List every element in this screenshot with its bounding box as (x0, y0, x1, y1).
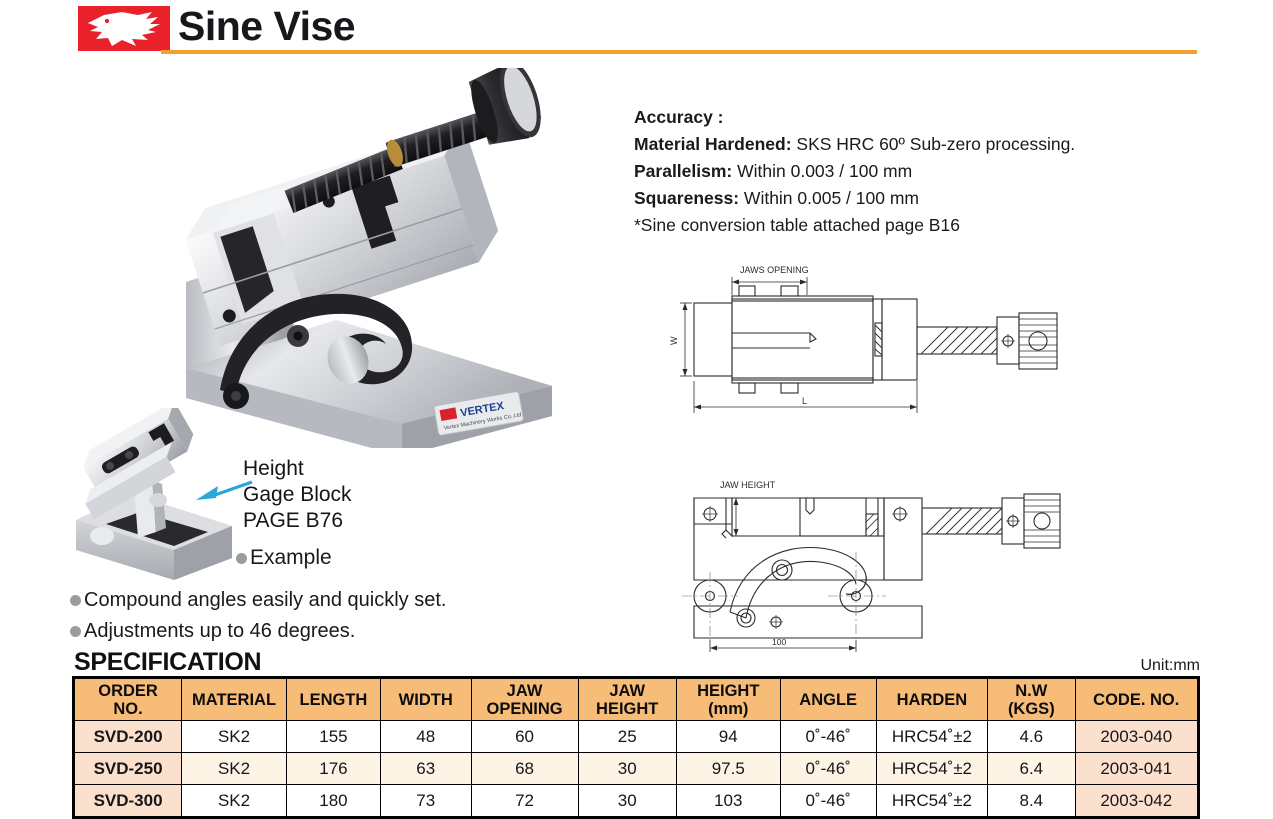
svg-text:100: 100 (772, 637, 786, 647)
cell-width: 48 (380, 721, 471, 753)
col-header-jaw-opening: JAW OPENING (471, 678, 578, 721)
list-item: Compound angles easily and quickly set. (70, 585, 446, 616)
cell-material: SK2 (182, 753, 287, 785)
cell-nw-kgs: 8.4 (988, 785, 1075, 818)
table-row: SVD-250 SK2 176 63 68 30 97.5 0˚-46˚ HRC… (74, 753, 1199, 785)
cell-height-mm: 103 (676, 785, 780, 818)
cell-code-no: 2003-041 (1075, 753, 1199, 785)
cell-length: 180 (286, 785, 380, 818)
cell-code-no: 2003-040 (1075, 721, 1199, 753)
cell-angle: 0˚-46˚ (780, 753, 876, 785)
cell-harden: HRC54˚±2 (876, 785, 987, 818)
specification-table-wrapper: ORDER NO. MATERIAL LENGTH WIDTH JAW OPEN… (72, 676, 1200, 819)
callout-line-1: Height (243, 456, 352, 482)
header-divider (161, 50, 1197, 54)
page-title: Sine Vise (178, 2, 355, 50)
technical-drawing-top-view: JAWS OPENING W L (660, 255, 1080, 440)
unit-note: Unit:mm (1140, 657, 1200, 675)
cell-jaw-height: 25 (578, 721, 676, 753)
specification-heading: SPECIFICATION (74, 648, 261, 677)
feature-text: Adjustments up to 46 degrees. (84, 616, 355, 647)
svg-text:JAW HEIGHT: JAW HEIGHT (720, 480, 776, 490)
accuracy-note: *Sine conversion table attached page B16 (634, 212, 1234, 239)
cell-angle: 0˚-46˚ (780, 721, 876, 753)
callout-line-2: Gage Block (243, 482, 352, 508)
table-row: SVD-200 SK2 155 48 60 25 94 0˚-46˚ HRC54… (74, 721, 1199, 753)
col-header-angle: ANGLE (780, 678, 876, 721)
eagle-head-logo-icon (78, 6, 170, 51)
feature-text: Compound angles easily and quickly set. (84, 585, 446, 616)
col-header-harden: HARDEN (876, 678, 987, 721)
col-header-jaw-height: JAW HEIGHT (578, 678, 676, 721)
cell-nw-kgs: 6.4 (988, 753, 1075, 785)
cell-length: 155 (286, 721, 380, 753)
product-photo-sine-vise: VERTEX Vertex Machinery Works Co.,Ltd (140, 68, 570, 448)
col-header-width: WIDTH (380, 678, 471, 721)
svg-text:L: L (802, 396, 807, 406)
cell-material: SK2 (182, 785, 287, 818)
cell-height-mm: 94 (676, 721, 780, 753)
col-header-length: LENGTH (286, 678, 380, 721)
cell-order-no: SVD-200 (74, 721, 182, 753)
page-header: Sine Vise (0, 0, 1273, 58)
dim-label-jaws-opening: JAWS OPENING (740, 265, 809, 275)
table-row: SVD-300 SK2 180 73 72 30 103 0˚-46˚ HRC5… (74, 785, 1199, 818)
callout-height-gage-block: Height Gage Block PAGE B76 (243, 456, 352, 534)
cell-length: 176 (286, 753, 380, 785)
example-label: Example (250, 545, 332, 571)
accuracy-parallelism: Parallelism: Within 0.003 / 100 mm (634, 158, 1234, 185)
col-header-height-mm: HEIGHT (mm) (676, 678, 780, 721)
cell-width: 63 (380, 753, 471, 785)
svg-text:W: W (669, 336, 679, 345)
cell-code-no: 2003-042 (1075, 785, 1199, 818)
cell-width: 73 (380, 785, 471, 818)
cell-order-no: SVD-250 (74, 753, 182, 785)
col-header-order-no: ORDER NO. (74, 678, 182, 721)
cell-jaw-opening: 72 (471, 785, 578, 818)
feature-bullet-list: Compound angles easily and quickly set. … (70, 585, 446, 647)
cell-material: SK2 (182, 721, 287, 753)
accuracy-material-hardened: Material Hardened: SKS HRC 60º Sub-zero … (634, 131, 1234, 158)
accuracy-spec-block: Accuracy : Material Hardened: SKS HRC 60… (634, 104, 1234, 239)
callout-line-3: PAGE B76 (243, 508, 352, 534)
col-header-code-no: CODE. NO. (1075, 678, 1199, 721)
bullet-icon (236, 553, 247, 564)
bullet-icon (70, 626, 81, 637)
technical-drawing-side-view: JAW HEIGHT 100 (660, 452, 1080, 657)
cell-jaw-opening: 60 (471, 721, 578, 753)
accuracy-squareness: Squareness: Within 0.005 / 100 mm (634, 185, 1234, 212)
bullet-icon (70, 595, 81, 606)
cell-nw-kgs: 4.6 (988, 721, 1075, 753)
cell-harden: HRC54˚±2 (876, 721, 987, 753)
cell-angle: 0˚-46˚ (780, 785, 876, 818)
specification-table: ORDER NO. MATERIAL LENGTH WIDTH JAW OPEN… (72, 676, 1200, 819)
cell-jaw-height: 30 (578, 785, 676, 818)
cell-order-no: SVD-300 (74, 785, 182, 818)
list-item: Adjustments up to 46 degrees. (70, 616, 446, 647)
col-header-nw-kgs: N.W (KGS) (988, 678, 1075, 721)
col-header-material: MATERIAL (182, 678, 287, 721)
cell-harden: HRC54˚±2 (876, 753, 987, 785)
accuracy-heading: Accuracy : (634, 104, 1234, 131)
example-label-row: Example (236, 545, 332, 571)
cell-jaw-opening: 68 (471, 753, 578, 785)
cell-height-mm: 97.5 (676, 753, 780, 785)
table-header-row: ORDER NO. MATERIAL LENGTH WIDTH JAW OPEN… (74, 678, 1199, 721)
cell-jaw-height: 30 (578, 753, 676, 785)
